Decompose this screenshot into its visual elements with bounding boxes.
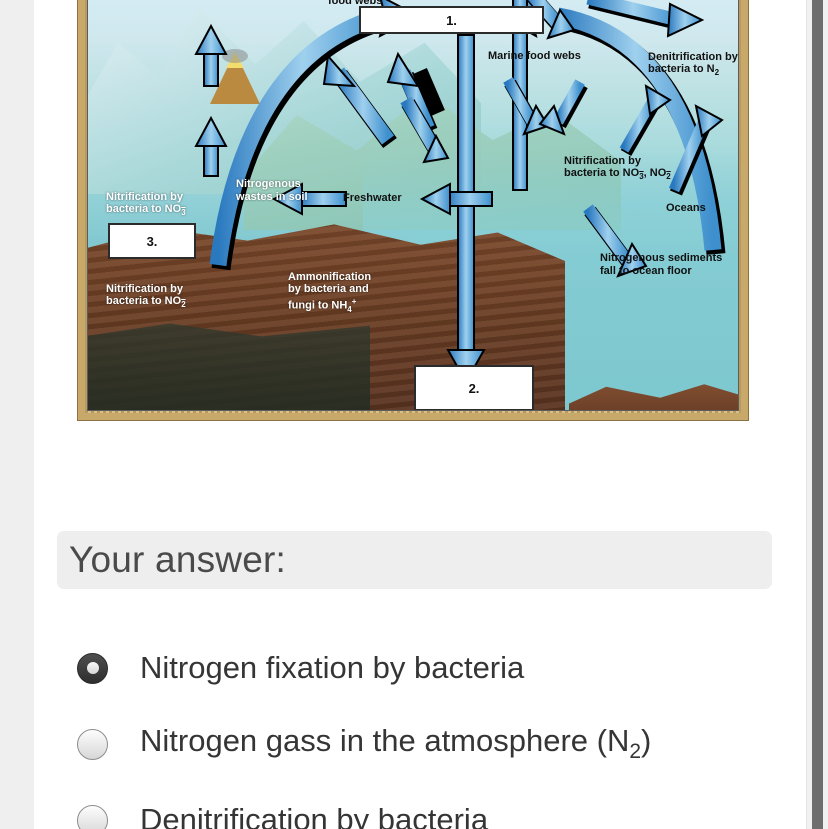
label-nitrification-no2: Nitrification by bacteria to NO2 [106, 270, 186, 312]
option-label-0: Nitrogen fixation by bacteria [140, 650, 524, 686]
label-ammonification: Ammonification by bacteria and fungi to … [288, 258, 371, 316]
option-label-1: Nitrogen gass in the atmosphere (N2) [140, 723, 651, 764]
label-denitrification: Denitrification by bacteria to N2 [648, 38, 738, 80]
label-marine-nitrification: Nitrification by bacteria to NO3, NO2 [564, 142, 671, 184]
figure-frame: 1. 2. 3. Terrestrial food webs Freshwate… [78, 0, 748, 420]
label-freshwater: Freshwater [343, 192, 402, 205]
option-label-1-sub: 2 [629, 741, 641, 764]
label-oceans: Oceans [666, 202, 706, 215]
your-answer-box: Your answer: [57, 531, 772, 589]
label-marine-nitrification-sub2: 2 [666, 172, 670, 181]
page-root: 1. 2. 3. Terrestrial food webs Freshwate… [0, 0, 828, 829]
label-marine-nitrification-mid: , NO [644, 167, 667, 179]
figure-canvas: 1. 2. 3. Terrestrial food webs Freshwate… [87, 0, 739, 411]
label-nitrogenous-sediments: Nitrogenous sediments fall to ocean floo… [600, 252, 722, 277]
label-marine-food-webs: Marine food webs [488, 50, 581, 63]
page-scrollbar[interactable] [806, 0, 828, 829]
label-nitrification-no2-sub: 2 [181, 300, 185, 309]
option-label-1-tail: ) [641, 723, 651, 758]
label-nitrification-no3-text: Nitrification by bacteria to NO [106, 191, 183, 216]
label-denitrification-sub: 2 [715, 68, 719, 77]
radio-option-2[interactable] [77, 805, 108, 829]
blank-box-2: 2. [414, 365, 534, 411]
label-terrestrial-food-webs: Terrestrial food webs [328, 0, 382, 7]
label-ammonification-text: Ammonification by bacteria and fungi to … [288, 271, 371, 312]
label-nitrogenous-wastes: Nitrogenous wastes in soil [236, 178, 308, 203]
blank-box-1: 1. [359, 6, 544, 34]
label-nitrification-no2-text: Nitrification by bacteria to NO [106, 283, 183, 308]
scrollbar-thumb[interactable] [812, 0, 823, 829]
label-nitrification-no3-sub: 3 [181, 208, 185, 217]
nitrogen-cycle-figure: 1. 2. 3. Terrestrial food webs Freshwate… [78, 0, 748, 420]
arrow-layer [88, 0, 739, 411]
option-label-1-text: Nitrogen gass in the atmosphere (N [140, 723, 629, 758]
radio-option-1[interactable] [77, 729, 108, 760]
blank-box-3: 3. [108, 223, 196, 259]
radio-option-0[interactable] [77, 653, 108, 684]
label-ammonification-sup: + [352, 297, 357, 306]
content-card: 1. 2. 3. Terrestrial food webs Freshwate… [34, 0, 806, 829]
label-denitrification-text: Denitrification by bacteria to N [648, 51, 738, 76]
option-row-1[interactable]: Nitrogen gass in the atmosphere (N2) [57, 706, 787, 782]
option-row-0[interactable]: Nitrogen fixation by bacteria [57, 630, 787, 706]
option-row-2[interactable]: Denitrification by bacteria [57, 782, 787, 829]
option-label-2: Denitrification by bacteria [140, 802, 488, 829]
label-marine-nitrification-text: Nitrification by bacteria to NO [564, 155, 641, 180]
answer-options-list: Nitrogen fixation by bacteria Nitrogen g… [57, 630, 787, 829]
label-nitrification-no3: Nitrification by bacteria to NO3 [106, 178, 186, 220]
your-answer-label: Your answer: [69, 539, 286, 581]
